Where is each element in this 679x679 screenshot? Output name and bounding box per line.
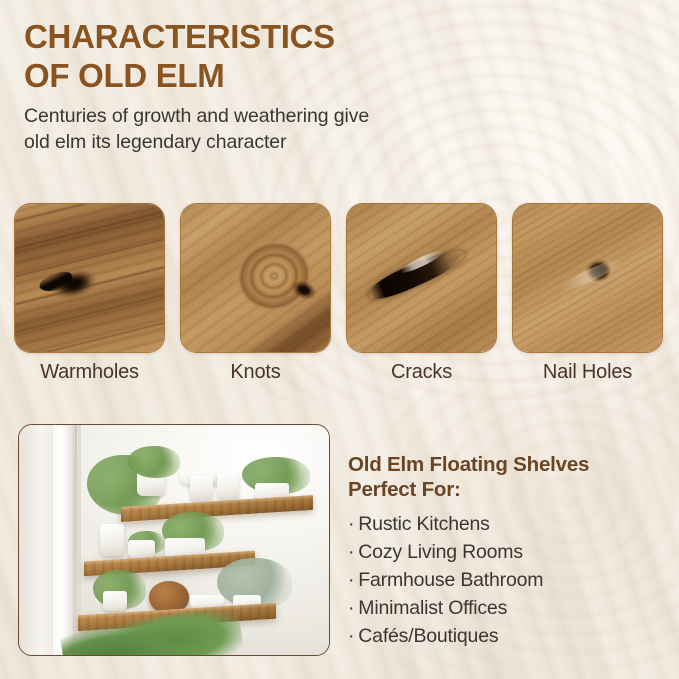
wood-swatch-warmholes-image	[15, 204, 164, 352]
wall-corner-line	[75, 425, 77, 655]
pot-mid-center	[128, 540, 156, 558]
promo-item-label: Rustic Kitchens	[358, 513, 489, 535]
room-scene	[19, 425, 329, 655]
list-item: ·Farmhouse Bathroom	[348, 566, 668, 594]
bullet-icon: ·	[348, 597, 354, 619]
list-item: ·Cafés/Boutiques	[348, 622, 668, 650]
wood-swatch-cracks-image	[347, 204, 496, 352]
swatch-card-warmholes[interactable]	[14, 203, 165, 353]
page-title-line-1: CHARACTERISTICS	[24, 18, 494, 57]
swatch-label-nail-holes: Nail Holes	[512, 361, 663, 384]
promo-item-label: Cafés/Boutiques	[358, 625, 498, 647]
promo-title-line-1: Old Elm Floating Shelves	[348, 452, 668, 477]
wood-swatch-knots-image	[181, 204, 330, 352]
swatch-label-knots: Knots	[180, 361, 331, 384]
list-item: ·Cozy Living Rooms	[348, 538, 668, 566]
pot-bottom-left	[103, 591, 128, 612]
bullet-icon: ·	[348, 625, 354, 647]
wood-swatch-nail-holes-image	[513, 204, 662, 352]
characteristics-swatch-row	[14, 203, 665, 353]
swatch-card-nail-holes[interactable]	[512, 203, 663, 353]
page-subtitle: Centuries of growth and weathering give …	[24, 104, 494, 156]
page-subtitle-line-2: old elm its legendary character	[24, 130, 494, 156]
bullet-icon: ·	[348, 569, 354, 591]
bullet-icon: ·	[348, 513, 354, 535]
list-item: ·Minimalist Offices	[348, 594, 668, 622]
lifestyle-photo-floating-shelves[interactable]	[18, 424, 330, 656]
promo-item-label: Minimalist Offices	[358, 597, 507, 619]
swatch-label-cracks: Cracks	[346, 361, 497, 384]
vase-mid-left	[100, 524, 125, 556]
mug-top-center	[217, 473, 239, 501]
page-title-line-2: OF OLD ELM	[24, 57, 494, 96]
swatch-label-warmholes: Warmholes	[14, 361, 165, 384]
promo-item-label: Farmhouse Bathroom	[358, 569, 543, 591]
door-trim	[53, 425, 73, 655]
page-title: CHARACTERISTICS OF OLD ELM	[24, 18, 494, 95]
swatch-card-cracks[interactable]	[346, 203, 497, 353]
infographic-root: CHARACTERISTICS OF OLD ELM Centuries of …	[0, 0, 679, 679]
bullet-icon: ·	[348, 541, 354, 563]
characteristics-label-row: Warmholes Knots Cracks Nail Holes	[14, 361, 665, 384]
page-subtitle-line-1: Centuries of growth and weathering give	[24, 104, 494, 130]
plant-trailing-top	[128, 446, 181, 478]
list-item: ·Rustic Kitchens	[348, 510, 668, 538]
vase-top-center	[190, 476, 213, 501]
promo-block: Old Elm Floating Shelves Perfect For: ·R…	[348, 452, 668, 650]
promo-use-case-list: ·Rustic Kitchens ·Cozy Living Rooms ·Far…	[348, 510, 668, 650]
swatch-card-knots[interactable]	[180, 203, 331, 353]
promo-item-label: Cozy Living Rooms	[358, 541, 523, 563]
header-block: CHARACTERISTICS OF OLD ELM Centuries of …	[24, 18, 494, 156]
promo-title: Old Elm Floating Shelves Perfect For:	[348, 452, 668, 503]
promo-title-line-2: Perfect For:	[348, 477, 668, 502]
